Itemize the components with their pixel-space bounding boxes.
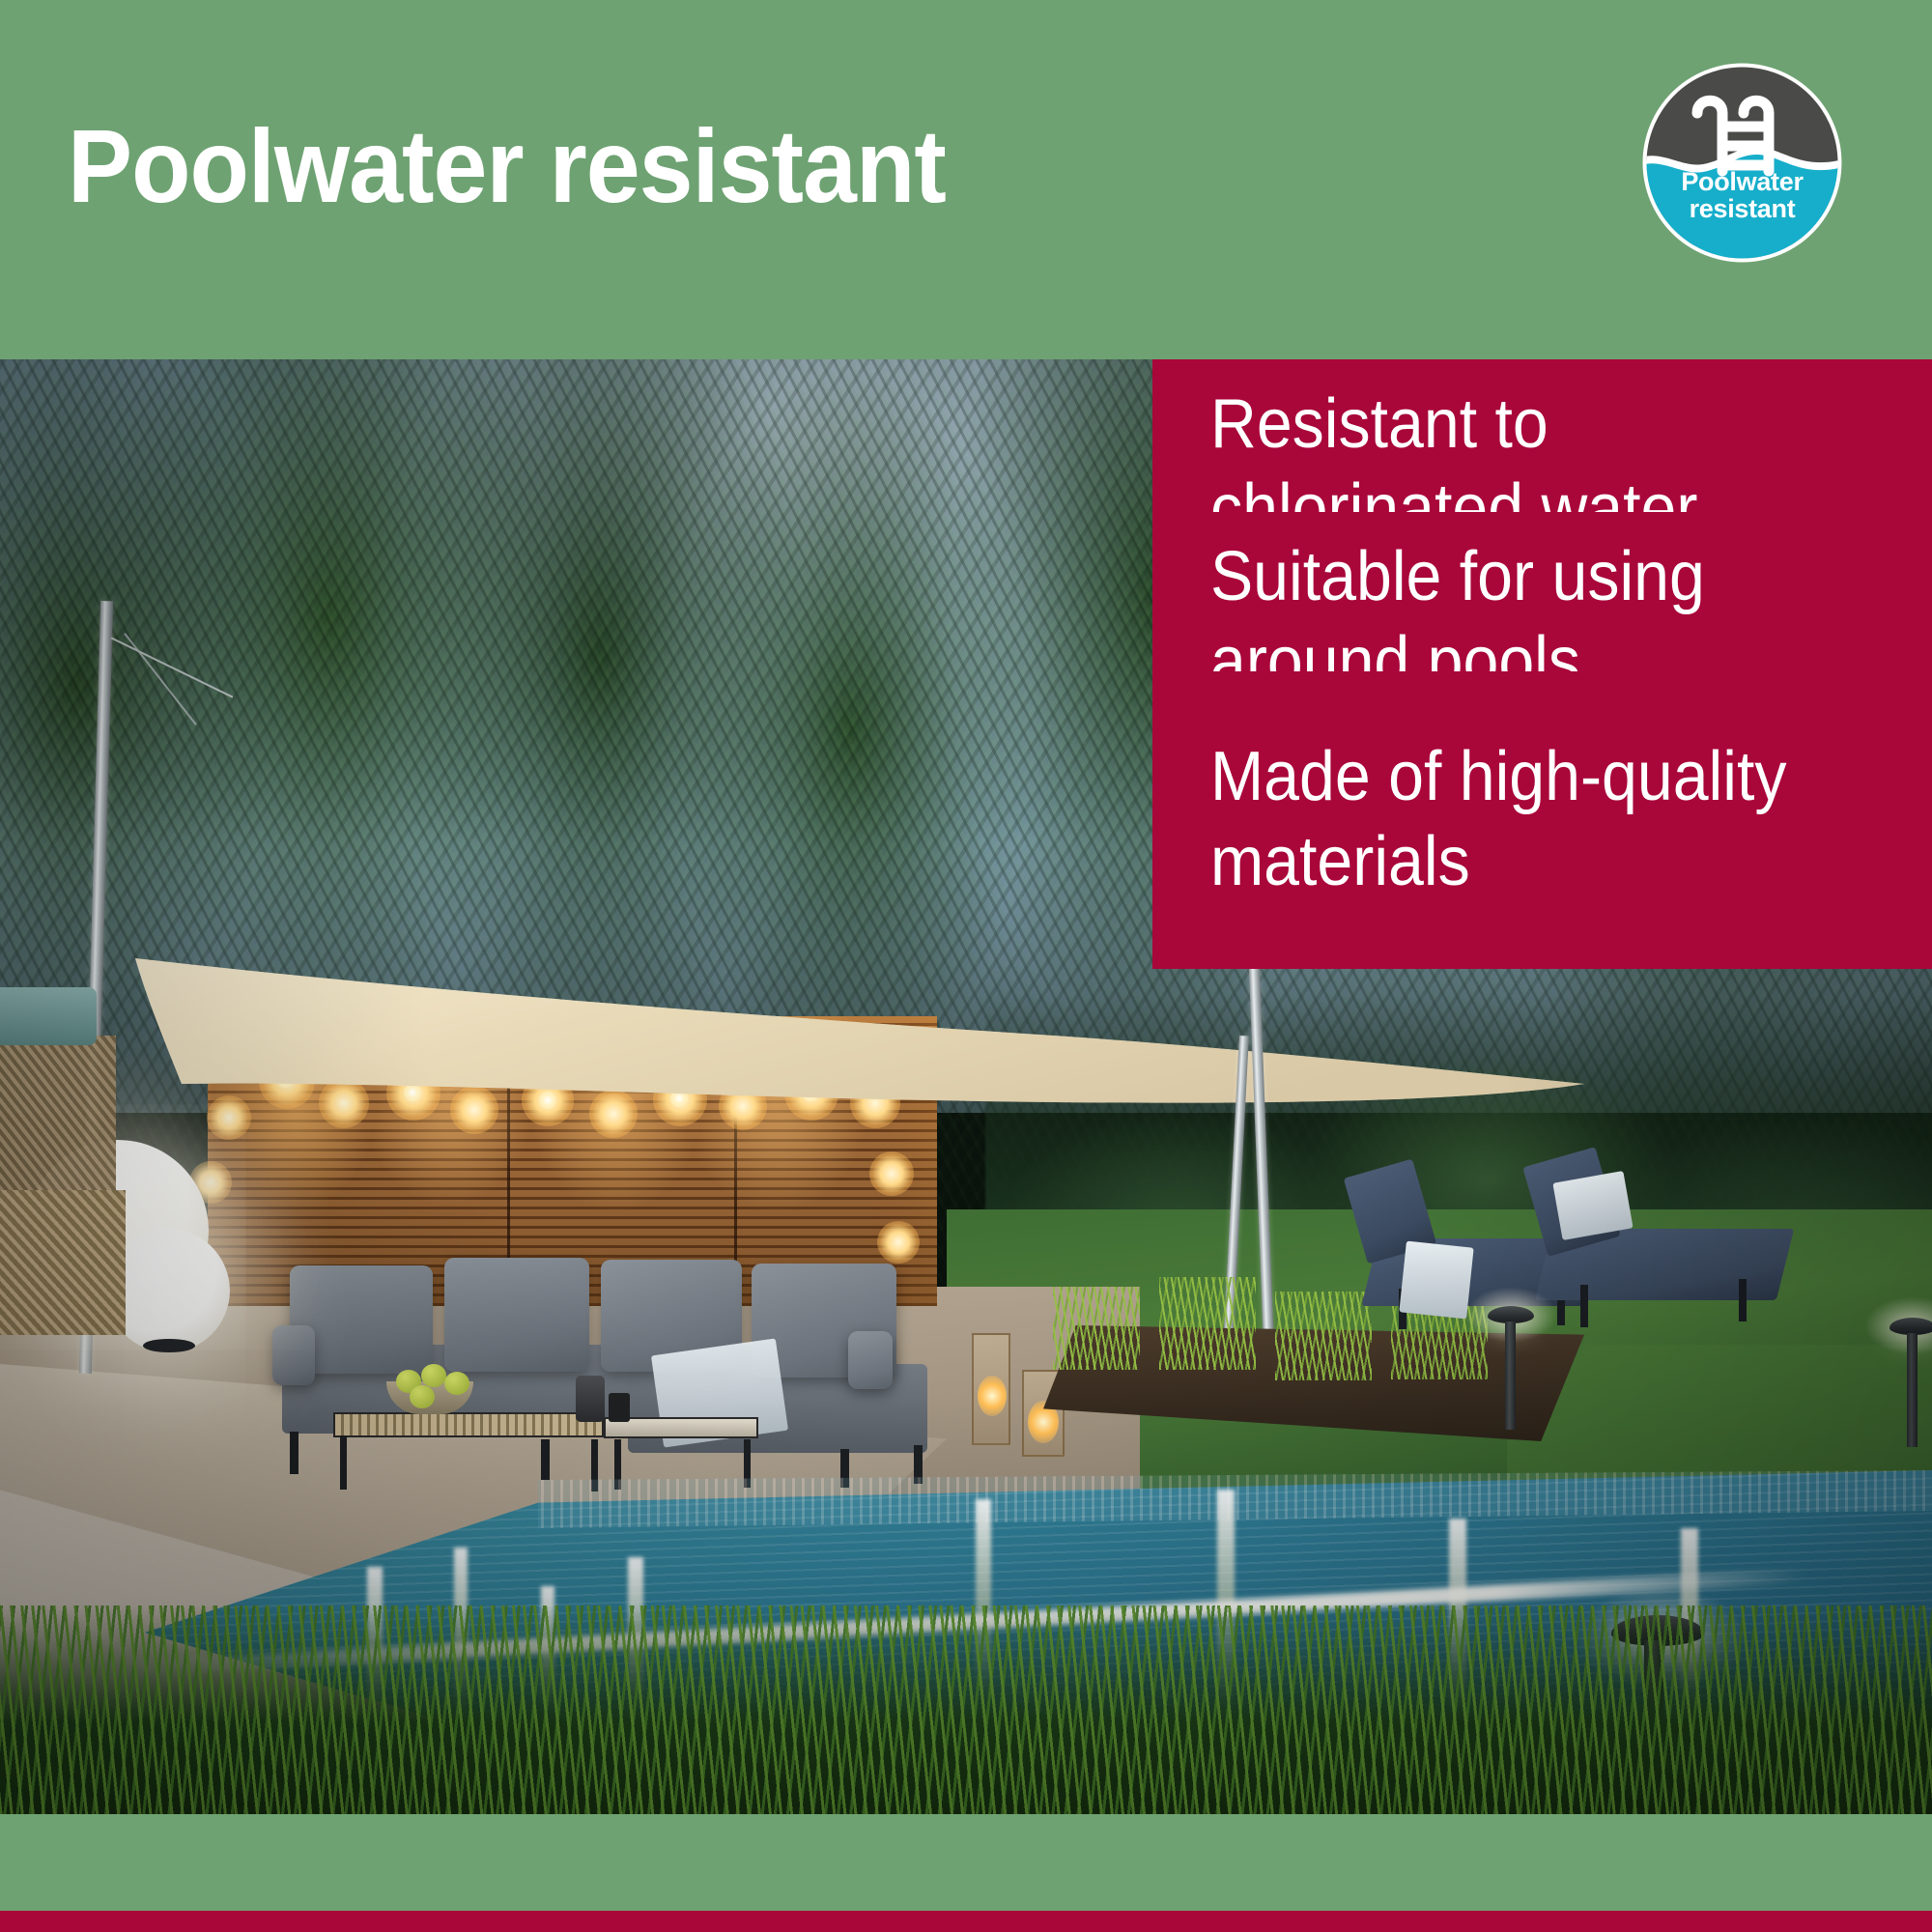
page-title: Poolwater resistant <box>68 114 946 218</box>
lounger-towel <box>1399 1241 1473 1320</box>
ornamental-grass <box>1053 1287 1140 1370</box>
footer-green-band <box>0 1814 1932 1911</box>
chaise-armrest <box>848 1331 893 1389</box>
sofa-armrest <box>272 1325 315 1385</box>
string-light-bulb <box>869 1151 914 1196</box>
bollard-light-pole <box>1907 1333 1918 1447</box>
sofa-leg <box>290 1432 298 1474</box>
sofa-leg <box>541 1439 550 1480</box>
globe-lamp-base <box>143 1339 195 1352</box>
callout-text-3: Made of high-quality materials <box>1210 735 1787 905</box>
fruit <box>444 1372 469 1395</box>
table-leg <box>340 1435 347 1490</box>
ornamental-grass <box>1159 1277 1256 1370</box>
jug <box>576 1376 605 1422</box>
wicker-cushion <box>0 987 97 1045</box>
callout-box-3: Made of high-quality materials <box>1152 671 1932 969</box>
fruit <box>421 1364 446 1387</box>
lantern-flame <box>978 1376 1007 1416</box>
lounger-leg <box>1580 1285 1588 1327</box>
string-light-bulb <box>877 1221 920 1264</box>
foreground-grass <box>0 1605 1932 1814</box>
footer-red-band <box>0 1911 1932 1932</box>
header-band: Poolwater resistant <box>0 0 1932 359</box>
bollard-light-pole <box>1505 1321 1516 1430</box>
poolwater-resistant-badge: Poolwater resistant <box>1639 60 1845 266</box>
wicker-sofa <box>0 1190 126 1335</box>
sofa-cushion <box>444 1258 589 1372</box>
coffee-table-slatted <box>333 1412 604 1437</box>
poolwater-resistant-marketing-banner: Poolwater resistant <box>0 0 1932 1932</box>
cup <box>609 1393 630 1422</box>
ornamental-grass <box>1275 1292 1372 1380</box>
fruit <box>410 1385 435 1408</box>
lounger-towel <box>1552 1171 1633 1240</box>
pool-ladder-icon <box>1639 60 1845 266</box>
lounger-leg <box>1739 1279 1747 1321</box>
